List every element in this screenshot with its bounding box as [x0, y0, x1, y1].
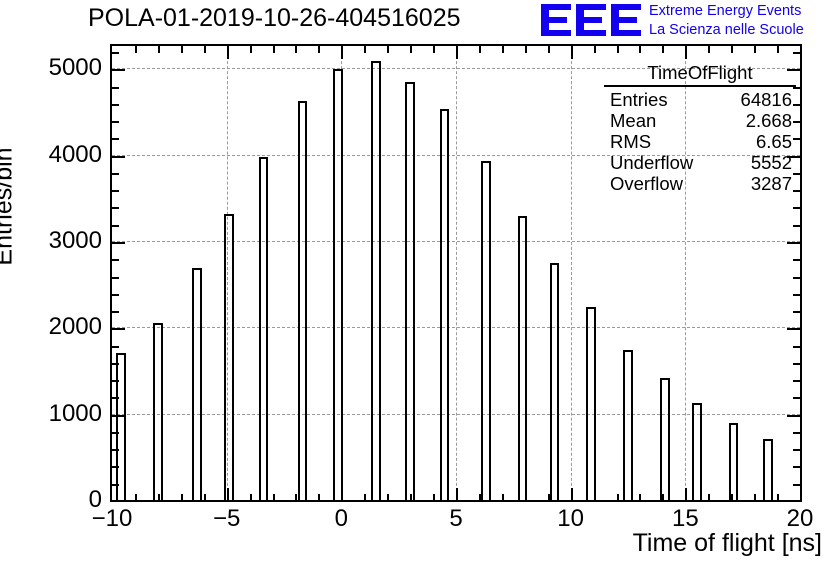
- histogram-bar: [481, 161, 491, 501]
- x-major-tick-top: [571, 46, 573, 59]
- stats-row-label: Entries: [610, 89, 668, 110]
- stats-row-value: 5552: [751, 152, 792, 173]
- y-minor-tick-right: [793, 363, 800, 365]
- y-minor-tick: [112, 52, 119, 54]
- x-minor-tick: [318, 494, 320, 501]
- x-major-tick-top: [685, 46, 687, 59]
- y-minor-tick: [112, 173, 119, 175]
- histogram-bar: [518, 216, 528, 501]
- histogram-bar: [586, 307, 596, 501]
- y-minor-tick: [112, 484, 119, 486]
- x-minor-tick-top: [525, 46, 527, 53]
- histogram-bar: [298, 101, 308, 501]
- x-minor-tick-top: [708, 46, 710, 53]
- x-minor-tick: [387, 494, 389, 501]
- x-minor-tick-top: [617, 46, 619, 53]
- eee-logo-mark: [541, 3, 643, 37]
- histogram-bar: [623, 350, 633, 501]
- x-minor-tick: [479, 494, 481, 501]
- x-tick-label: −5: [187, 505, 267, 533]
- y-tick-label: 4000: [22, 141, 102, 169]
- y-minor-tick: [112, 294, 119, 296]
- stats-row: Overflow3287: [604, 173, 796, 194]
- x-minor-tick-top: [410, 46, 412, 53]
- y-minor-tick: [112, 87, 119, 89]
- y-minor-tick: [112, 225, 119, 227]
- y-tick-label: 2000: [22, 313, 102, 341]
- x-minor-tick: [617, 494, 619, 501]
- y-minor-tick: [112, 138, 119, 140]
- x-major-tick-top: [227, 46, 229, 59]
- x-minor-tick: [158, 494, 160, 501]
- y-tick-label: 1000: [22, 400, 102, 428]
- stats-rows: Entries64816Mean2.668RMS6.65Underflow555…: [604, 89, 796, 194]
- x-major-tick-top: [456, 46, 458, 59]
- x-axis-title: Time of flight [ns]: [633, 529, 822, 558]
- x-minor-tick-top: [250, 46, 252, 53]
- histogram-bar: [153, 323, 163, 501]
- y-major-tick-right: [787, 242, 800, 244]
- y-minor-tick: [112, 190, 119, 192]
- x-minor-tick-top: [135, 46, 137, 53]
- histogram-bar: [192, 268, 202, 501]
- y-minor-tick: [112, 449, 119, 451]
- x-tick-label: 10: [531, 505, 611, 533]
- grid-line-vertical: [571, 46, 572, 501]
- x-minor-tick-top: [364, 46, 366, 53]
- x-tick-label: −10: [72, 505, 152, 533]
- y-minor-tick: [112, 363, 119, 365]
- stats-row-value: 2.668: [746, 110, 792, 131]
- histogram-bar: [550, 263, 560, 501]
- stats-row: Mean2.668: [604, 110, 796, 131]
- x-minor-tick: [639, 494, 641, 501]
- y-axis-title-wrap: Entries/bin: [0, 0, 40, 560]
- y-minor-tick-right: [793, 397, 800, 399]
- histogram-bar: [333, 69, 343, 501]
- y-major-tick: [112, 328, 125, 330]
- x-minor-tick-top: [433, 46, 435, 53]
- y-minor-tick-right: [793, 259, 800, 261]
- y-minor-tick-right: [793, 207, 800, 209]
- y-minor-tick-right: [793, 432, 800, 434]
- x-minor-tick-top: [181, 46, 183, 53]
- x-minor-tick: [548, 494, 550, 501]
- y-minor-tick: [112, 277, 119, 279]
- x-minor-tick-top: [479, 46, 481, 53]
- y-major-tick: [112, 415, 125, 417]
- x-minor-tick-top: [777, 46, 779, 53]
- y-minor-tick-right: [793, 311, 800, 313]
- stats-row-label: Underflow: [610, 152, 693, 173]
- x-minor-tick: [502, 494, 504, 501]
- x-minor-tick-top: [387, 46, 389, 53]
- y-minor-tick: [112, 104, 119, 106]
- stats-row-label: RMS: [610, 131, 651, 152]
- y-tick-label: 5000: [22, 54, 102, 82]
- histogram-bar: [259, 157, 269, 501]
- y-axis-title: Entries/bin: [0, 27, 19, 387]
- y-major-tick: [112, 156, 125, 158]
- eee-logo: Extreme Energy Events La Scienza nelle S…: [541, 2, 833, 40]
- x-minor-tick-top: [204, 46, 206, 53]
- x-minor-tick: [204, 494, 206, 501]
- x-major-tick: [571, 488, 573, 501]
- x-minor-tick: [525, 494, 527, 501]
- y-minor-tick: [112, 259, 119, 261]
- stats-row: Underflow5552: [604, 152, 796, 173]
- x-tick-label: 0: [301, 505, 381, 533]
- stats-box: TimeOfFlight Entries64816Mean2.668RMS6.6…: [604, 62, 796, 194]
- x-minor-tick: [364, 494, 366, 501]
- stats-box-rule: [604, 85, 796, 87]
- page-title: POLA-01-2019-10-26-404516025: [88, 4, 461, 33]
- x-minor-tick: [181, 494, 183, 501]
- stats-row-value: 6.65: [756, 131, 792, 152]
- histogram-bar: [371, 61, 381, 501]
- y-minor-tick: [112, 380, 119, 382]
- x-major-tick: [341, 488, 343, 501]
- x-minor-tick-top: [594, 46, 596, 53]
- y-minor-tick-right: [793, 466, 800, 468]
- histogram-bar: [729, 423, 739, 501]
- y-minor-tick-right: [793, 449, 800, 451]
- y-minor-tick-right: [793, 294, 800, 296]
- stats-row: Entries64816: [604, 89, 796, 110]
- x-major-tick: [227, 488, 229, 501]
- y-minor-tick: [112, 346, 119, 348]
- y-minor-tick-right: [793, 380, 800, 382]
- x-minor-tick-top: [158, 46, 160, 53]
- y-minor-tick: [112, 121, 119, 123]
- stats-row-value: 3287: [751, 173, 792, 194]
- y-minor-tick-right: [793, 52, 800, 54]
- y-minor-tick: [112, 311, 119, 313]
- x-minor-tick: [662, 494, 664, 501]
- stats-row-label: Mean: [610, 110, 656, 131]
- y-minor-tick-right: [793, 484, 800, 486]
- x-major-tick: [685, 488, 687, 501]
- x-minor-tick: [754, 494, 756, 501]
- y-major-tick: [112, 69, 125, 71]
- x-minor-tick: [594, 494, 596, 501]
- y-major-tick-right: [787, 328, 800, 330]
- stats-row-label: Overflow: [610, 173, 683, 194]
- x-minor-tick: [708, 494, 710, 501]
- x-minor-tick-top: [731, 46, 733, 53]
- x-minor-tick: [250, 494, 252, 501]
- y-minor-tick: [112, 432, 119, 434]
- x-minor-tick: [731, 494, 733, 501]
- y-major-tick: [112, 242, 125, 244]
- stats-row: RMS6.65: [604, 131, 796, 152]
- stats-row-value: 64816: [741, 89, 792, 110]
- eee-logo-text: Extreme Energy Events La Scienza nelle S…: [649, 2, 835, 40]
- eee-logo-line1: Extreme Energy Events: [649, 2, 835, 21]
- x-minor-tick: [273, 494, 275, 501]
- x-minor-tick-top: [502, 46, 504, 53]
- x-minor-tick-top: [318, 46, 320, 53]
- histogram-bar: [116, 353, 126, 501]
- x-minor-tick: [433, 494, 435, 501]
- y-minor-tick: [112, 466, 119, 468]
- histogram-bar: [692, 403, 702, 501]
- x-minor-tick-top: [662, 46, 664, 53]
- root-canvas: POLA-01-2019-10-26-404516025 Extreme Ene…: [0, 0, 836, 572]
- histogram-bar: [440, 109, 450, 501]
- grid-line-vertical: [456, 46, 457, 501]
- x-minor-tick: [295, 494, 297, 501]
- y-minor-tick: [112, 397, 119, 399]
- x-minor-tick-top: [639, 46, 641, 53]
- histogram-bar: [763, 439, 773, 501]
- histogram-bar: [224, 214, 234, 502]
- x-minor-tick-top: [273, 46, 275, 53]
- x-minor-tick-top: [548, 46, 550, 53]
- x-minor-tick: [135, 494, 137, 501]
- eee-logo-line2: La Scienza nelle Scuole: [649, 21, 835, 40]
- y-minor-tick-right: [793, 346, 800, 348]
- x-major-tick-top: [341, 46, 343, 59]
- histogram-bar: [660, 378, 670, 501]
- histogram-bar: [405, 82, 415, 501]
- x-minor-tick: [410, 494, 412, 501]
- stats-box-title: TimeOfFlight: [604, 62, 796, 85]
- x-minor-tick-top: [754, 46, 756, 53]
- x-tick-label: 5: [416, 505, 496, 533]
- x-major-tick: [456, 488, 458, 501]
- y-minor-tick-right: [793, 277, 800, 279]
- x-minor-tick-top: [295, 46, 297, 53]
- x-minor-tick: [777, 494, 779, 501]
- y-tick-label: 3000: [22, 227, 102, 255]
- y-minor-tick-right: [793, 225, 800, 227]
- y-major-tick-right: [787, 415, 800, 417]
- y-minor-tick: [112, 207, 119, 209]
